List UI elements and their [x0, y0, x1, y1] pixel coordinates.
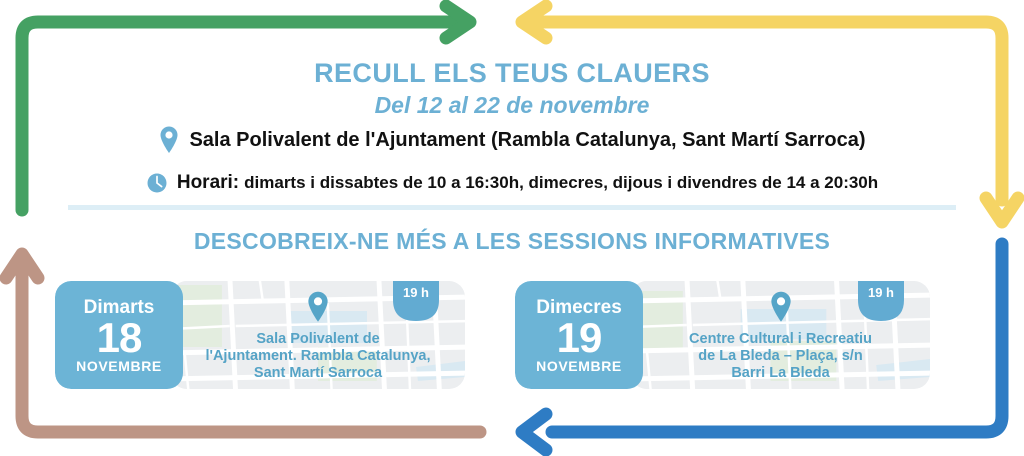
session-map: 19 h Sala Polivalent de l'Ajuntament. Ra…: [171, 281, 465, 389]
session-time: 19 h: [858, 285, 904, 300]
section-divider: [68, 205, 956, 210]
map-pin-icon: [158, 125, 180, 155]
session-date-badge: Dimecres 19 NOVEMBRE: [515, 281, 643, 389]
hours-value: dimarts i dissabtes de 10 a 16:30h, dime…: [244, 173, 878, 193]
session-time-badge: 19 h: [858, 281, 904, 321]
session-place: Sala Polivalent de l'Ajuntament. Rambla …: [171, 331, 465, 382]
page-subtitle: Del 12 al 22 de novembre: [0, 92, 1024, 119]
session-month: NOVEMBRE: [515, 358, 643, 375]
session-place-line: Sala Polivalent de: [185, 331, 451, 348]
section-heading: DESCOBREIX-NE MÉS A LES SESSIONS INFORMA…: [0, 228, 1024, 255]
session-card[interactable]: Dimarts 18 NOVEMBRE: [55, 281, 465, 389]
session-place-line: l'Ajuntament. Rambla Catalunya,: [185, 348, 451, 365]
hours-label: Horari:: [177, 172, 239, 194]
session-month: NOVEMBRE: [55, 358, 183, 375]
page-title: RECULL ELS TEUS CLAUERS: [0, 58, 1024, 89]
map-pin-icon: [305, 290, 331, 324]
session-place-line: Barri La Bleda: [645, 365, 916, 382]
poster-content: RECULL ELS TEUS CLAUERS Del 12 al 22 de …: [0, 0, 1024, 456]
session-place: Centre Cultural i Recreatiu de La Bleda …: [631, 331, 930, 382]
map-pin-icon: [768, 290, 794, 324]
session-place-line: Centre Cultural i Recreatiu: [645, 331, 916, 348]
address-line: Sala Polivalent de l'Ajuntament (Rambla …: [0, 125, 1024, 155]
session-place-line: Sant Martí Sarroca: [185, 365, 451, 382]
session-date-badge: Dimarts 18 NOVEMBRE: [55, 281, 183, 389]
session-place-line: de La Bleda – Plaça, s/n: [645, 348, 916, 365]
poster-root: RECULL ELS TEUS CLAUERS Del 12 al 22 de …: [0, 0, 1024, 456]
session-day: 18: [55, 318, 183, 358]
session-day: 19: [515, 318, 643, 358]
address-text: Sala Polivalent de l'Ajuntament (Rambla …: [189, 129, 865, 152]
session-map: 19 h Centre Cultural i Recreatiu de La B…: [631, 281, 930, 389]
session-time: 19 h: [393, 285, 439, 300]
clock-icon: [146, 168, 168, 198]
session-card[interactable]: Dimecres 19 NOVEMBRE: [515, 281, 930, 389]
hours-line: Horari: dimarts i dissabtes de 10 a 16:3…: [0, 168, 1024, 198]
session-time-badge: 19 h: [393, 281, 439, 321]
